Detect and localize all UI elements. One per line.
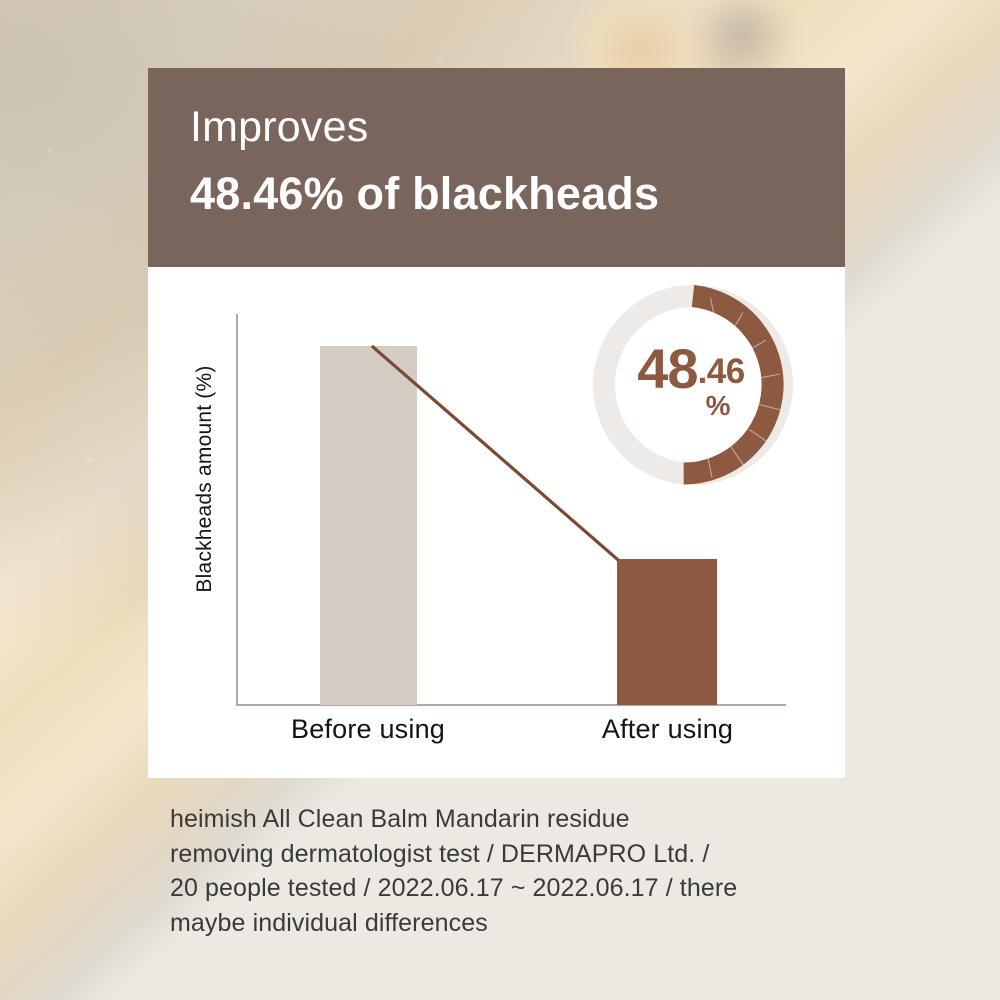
bar-before-using bbox=[320, 346, 417, 705]
x-label-after-using: After using bbox=[570, 714, 765, 745]
header-banner: Improves 48.46% of blackheads bbox=[148, 68, 845, 267]
y-axis-line bbox=[236, 314, 238, 705]
caption-block: heimish All Clean Balm Mandarin residue … bbox=[170, 802, 860, 940]
donut-fraction-column: .46 % bbox=[698, 342, 745, 420]
donut-integer-part: 48 bbox=[637, 342, 697, 395]
caption-line-1: heimish All Clean Balm Mandarin residue bbox=[170, 802, 860, 837]
x-label-before-using: Before using bbox=[268, 714, 468, 745]
donut-percent-symbol: % bbox=[706, 392, 731, 420]
caption-line-2: removing dermatologist test / DERMAPRO L… bbox=[170, 837, 860, 872]
y-axis-title: Blackheads amount (%) bbox=[193, 314, 217, 644]
donut-gauge: 48 .46 % bbox=[593, 285, 793, 485]
donut-value-block: 48 .46 % bbox=[593, 285, 793, 485]
bar-after-using bbox=[617, 559, 717, 705]
chart-card: Blackheads amount (%) Before using After… bbox=[148, 267, 845, 778]
header-line-1: Improves bbox=[190, 106, 825, 149]
header-line-2: 48.46% of blackheads bbox=[190, 171, 825, 216]
donut-fraction-part: .46 bbox=[698, 354, 745, 389]
donut-number-row: 48 .46 % bbox=[637, 342, 744, 420]
caption-line-3: 20 people tested / 2022.06.17 ~ 2022.06.… bbox=[170, 871, 860, 906]
header-text-block: Improves 48.46% of blackheads bbox=[190, 106, 825, 216]
caption-line-4: maybe individual differences bbox=[170, 906, 860, 941]
